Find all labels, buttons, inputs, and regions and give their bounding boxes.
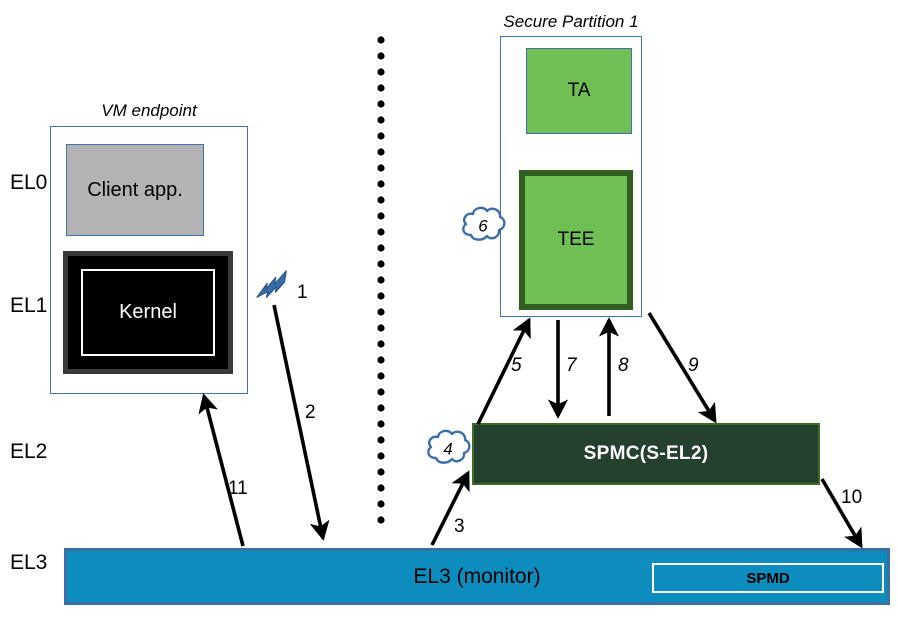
kernel-box: Kernel	[63, 251, 233, 374]
divider-dot	[377, 420, 384, 427]
client-app-label: Client app.	[87, 179, 183, 202]
spmc-box: SPMC(S-EL2)	[472, 423, 820, 485]
divider-dot	[377, 324, 384, 331]
el-label-el3: EL3	[10, 552, 47, 573]
ta-label: TA	[568, 80, 591, 102]
vm-endpoint-caption: VM endpoint	[50, 101, 248, 121]
divider-dot	[377, 68, 384, 75]
client-app-box: Client app.	[66, 144, 204, 236]
divider-dot	[377, 276, 384, 283]
divider-dot	[377, 52, 384, 59]
divider-dot	[377, 292, 384, 299]
arrow-step-9	[649, 313, 715, 421]
step-number-3: 3	[454, 516, 465, 538]
divider-dot	[377, 516, 384, 523]
step-number-9: 9	[688, 355, 699, 377]
arrow-step-11	[204, 396, 243, 546]
step-number-2: 2	[305, 402, 316, 424]
step-number-11: 11	[228, 478, 248, 500]
lightning-bolt-icon	[252, 271, 292, 300]
kernel-inner-frame: Kernel	[81, 269, 215, 356]
divider-dot	[377, 180, 384, 187]
divider-dot	[377, 404, 384, 411]
divider-dot	[377, 468, 384, 475]
divider-dot	[377, 132, 384, 139]
divider-dot	[377, 84, 384, 91]
el-label-el0: EL0	[10, 172, 47, 193]
step-number-5: 5	[511, 355, 522, 377]
divider-dot	[377, 308, 384, 315]
cloud-callout-number: 6	[461, 217, 505, 237]
el-label-el1: EL1	[10, 295, 47, 316]
divider-dot	[377, 228, 384, 235]
step-number-10: 10	[841, 487, 862, 509]
cloud-callout-label-6: 6	[461, 205, 505, 249]
divider-dot	[377, 452, 384, 459]
divider-dot	[377, 436, 384, 443]
divider-dot	[377, 36, 384, 43]
divider-dot	[377, 212, 384, 219]
spmd-label: SPMD	[746, 570, 789, 587]
divider-dot	[377, 260, 384, 267]
divider-dot	[377, 244, 384, 251]
spmd-box: SPMD	[652, 563, 884, 593]
divider-dot	[377, 148, 384, 155]
secure-partition-caption: Secure Partition 1	[496, 12, 646, 32]
divider-dot	[377, 340, 384, 347]
step-number-8: 8	[618, 355, 629, 377]
secure-nonsecure-divider	[377, 36, 384, 523]
step-number-1: 1	[297, 282, 308, 304]
divider-dot	[377, 388, 384, 395]
divider-dot	[377, 484, 384, 491]
divider-dot	[377, 356, 384, 363]
cloud-callout-label-4: 4	[426, 428, 470, 472]
divider-dot	[377, 500, 384, 507]
el3-monitor-bar: EL3 (monitor) SPMD	[64, 548, 890, 605]
spmc-label: SPMC(S-EL2)	[584, 443, 709, 465]
divider-dot	[377, 100, 384, 107]
cloud-callout-number: 4	[426, 440, 470, 460]
divider-dot	[377, 164, 384, 171]
tee-label: TEE	[558, 229, 595, 251]
divider-dot	[377, 196, 384, 203]
tee-box: TEE	[519, 170, 633, 310]
ta-box: TA	[526, 48, 632, 134]
step-number-7: 7	[566, 355, 577, 377]
divider-dot	[377, 372, 384, 379]
divider-dot	[377, 116, 384, 123]
diagram-canvas: EL0 EL1 EL2 EL3 VM endpoint Client app. …	[0, 0, 899, 625]
el-label-el2: EL2	[10, 441, 47, 462]
kernel-label: Kernel	[119, 301, 177, 324]
arrow-step-2	[274, 305, 323, 538]
